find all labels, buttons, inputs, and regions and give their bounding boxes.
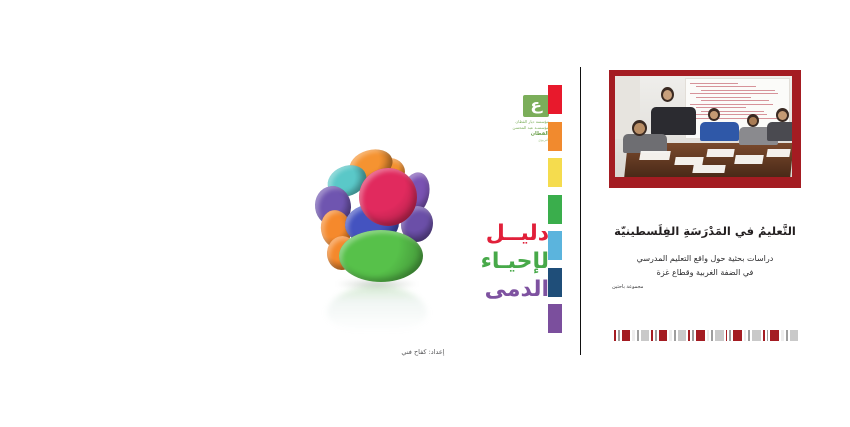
- person-head: [747, 114, 759, 127]
- seated-boy-front: [619, 118, 672, 152]
- classroom-photo: [615, 76, 792, 177]
- footer-bar-17: [715, 330, 723, 341]
- subtitle-line-2: في الضفة الغربية وقطاع غزة: [612, 266, 798, 280]
- footer-bar-3: [632, 330, 635, 341]
- rainbow-color-strip: [548, 85, 562, 333]
- subtitle-line-1: دراسات بحثية حول واقع التعليم المدرسي: [612, 252, 798, 266]
- publisher-logo-text: مؤسسة ديار القطان مؤسسـة عبد المحسن القط…: [512, 119, 549, 143]
- logo-line-2: مؤسسـة عبد المحسن: [512, 125, 549, 131]
- footer-bar-20: [733, 330, 741, 341]
- left-book-cover[interactable]: ع مؤسسة ديار القطان مؤسسـة عبد المحسن ال…: [281, 60, 565, 360]
- logo-glyph: ع: [530, 98, 542, 113]
- paper-sheet-2: [706, 149, 734, 157]
- footer-bar-29: [790, 330, 798, 341]
- paper-sheet-1: [674, 157, 704, 165]
- footer-bar-26: [770, 330, 778, 341]
- person-head: [661, 87, 674, 102]
- footer-bar-6: [651, 330, 653, 341]
- footer-bar-7: [655, 330, 657, 341]
- color-swatch-navy: [548, 268, 562, 297]
- left-cover-credit: إعداد: كفاح فني: [281, 348, 565, 356]
- footer-bar-14: [696, 330, 704, 341]
- left-cover-title: دليــل لإحيـاء الدمى: [429, 220, 549, 304]
- logo-line-1: مؤسسة ديار القطان: [512, 119, 549, 125]
- person-body: [767, 122, 792, 141]
- person-face: [778, 111, 787, 120]
- footer-bar-27: [781, 330, 784, 341]
- title-line-2: لإحيـاء: [429, 248, 549, 276]
- footer-bar-1: [618, 330, 620, 341]
- publisher-logo: ع مؤسسة ديار القطان مؤسسـة عبد المحسن ال…: [493, 95, 549, 143]
- paper-sheet-5: [692, 165, 725, 173]
- paper-sheet-0: [639, 151, 671, 160]
- footer-bar-2: [622, 330, 630, 341]
- footer-bar-9: [669, 330, 672, 341]
- clay-ball-shape: [315, 148, 440, 288]
- page-canvas: ع مؤسسة ديار القطان مؤسسـة عبد المحسن ال…: [0, 0, 850, 427]
- color-swatch-light-blue: [548, 231, 562, 260]
- classroom-photo-frame: [609, 70, 801, 188]
- footer-bar-5: [641, 330, 649, 341]
- whiteboard-line: [696, 97, 751, 98]
- footer-bar-28: [786, 330, 788, 341]
- footer-bar-16: [711, 330, 713, 341]
- footer-bar-18: [726, 330, 728, 341]
- clay-blob-9: [339, 230, 423, 282]
- footer-bar-24: [763, 330, 765, 341]
- right-cover-authors: مجموعة باحثين: [612, 284, 643, 290]
- clay-ball-reflection: [327, 286, 427, 332]
- person-face: [663, 90, 672, 100]
- title-line-1: دليــل: [429, 220, 549, 248]
- logo-line-4: التربوي: [512, 138, 549, 143]
- footer-bar-4: [637, 330, 639, 341]
- paper-sheet-4: [767, 149, 791, 157]
- footer-bar-8: [659, 330, 667, 341]
- whiteboard-line: [696, 86, 757, 87]
- qattan-foundation-logo-icon: ع: [523, 95, 549, 117]
- vertical-divider: [580, 67, 581, 355]
- logo-line-3: القطان: [512, 131, 549, 138]
- color-swatch-purple: [548, 304, 562, 333]
- color-swatch-orange: [548, 122, 562, 151]
- person-head: [776, 108, 789, 122]
- footer-bar-pattern: [614, 330, 798, 341]
- right-cover-title: التَّعليمُ في المَدْرَسَةِ الفِلَسطينيّة: [610, 224, 800, 239]
- footer-bar-22: [748, 330, 750, 341]
- whiteboard-line: [690, 104, 772, 105]
- person-face: [634, 123, 645, 134]
- footer-bar-21: [744, 330, 747, 341]
- color-swatch-yellow: [548, 158, 562, 187]
- person-head: [708, 108, 720, 121]
- footer-bar-25: [767, 330, 769, 341]
- right-cover-subtitle: دراسات بحثية حول واقع التعليم المدرسي في…: [612, 252, 798, 280]
- paper-sheet-3: [735, 155, 765, 164]
- footer-bar-15: [707, 330, 710, 341]
- footer-bar-10: [674, 330, 676, 341]
- footer-bar-13: [692, 330, 694, 341]
- footer-bar-11: [678, 330, 686, 341]
- footer-bar-19: [729, 330, 731, 341]
- girl-red-bow: [764, 106, 792, 140]
- clay-blob-4: [359, 168, 417, 226]
- whiteboard-line: [690, 93, 777, 94]
- title-line-3: الدمى: [429, 276, 549, 304]
- footer-bar-23: [752, 330, 760, 341]
- footer-bar-0: [614, 330, 616, 341]
- color-swatch-green: [548, 195, 562, 224]
- color-swatch-red: [548, 85, 562, 114]
- person-face: [710, 111, 718, 119]
- whiteboard-line: [701, 90, 775, 91]
- whiteboard-line: [701, 100, 770, 101]
- footer-bar-12: [688, 330, 690, 341]
- person-face: [749, 117, 757, 125]
- person-body: [623, 134, 668, 153]
- right-book-cover[interactable]: التَّعليمُ في المَدْرَسَةِ الفِلَسطينيّة…: [600, 62, 810, 356]
- person-body: [700, 122, 739, 141]
- classroom-scene: [615, 76, 792, 177]
